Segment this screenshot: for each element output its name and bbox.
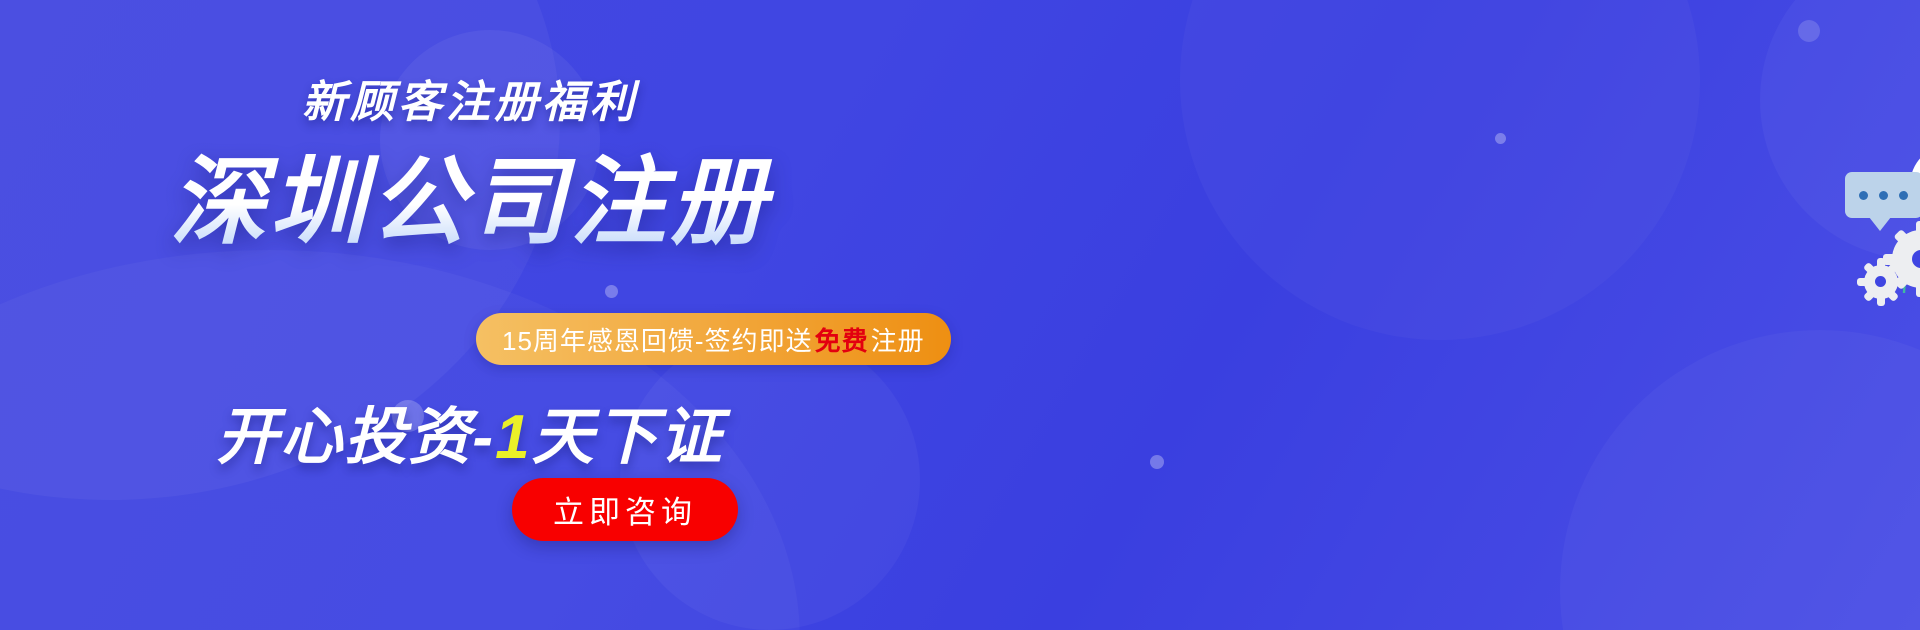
kicker-text: 新顾客注册福利 xyxy=(0,66,940,130)
promo-badge-prefix: 15周年感恩回馈-签约即送 xyxy=(502,321,813,358)
promo-badge: 15周年感恩回馈-签约即送免费注册 xyxy=(476,313,951,365)
page-title: 深圳公司注册 xyxy=(0,124,940,263)
promo-badge-highlight: 免费 xyxy=(813,321,871,358)
copy-column: 新顾客注册福利 深圳公司注册 15周年感恩回馈-签约即送免费注册 开心投资-1天… xyxy=(0,0,940,630)
subheadline-prefix: 开心投资- xyxy=(216,403,495,472)
promo-badge-suffix: 注册 xyxy=(871,321,925,358)
illustration-stage xyxy=(900,0,1920,630)
promo-banner: 新顾客注册福利 深圳公司注册 15周年感恩回馈-签约即送免费注册 开心投资-1天… xyxy=(0,0,1920,630)
subheadline-number: 1 xyxy=(495,403,531,472)
small-gear-icon xyxy=(1862,263,1900,301)
consult-now-button[interactable]: 立即咨询 xyxy=(512,478,738,541)
subheadline-suffix: 天下证 xyxy=(532,403,724,472)
subheadline: 开心投资-1天下证 xyxy=(0,386,940,476)
